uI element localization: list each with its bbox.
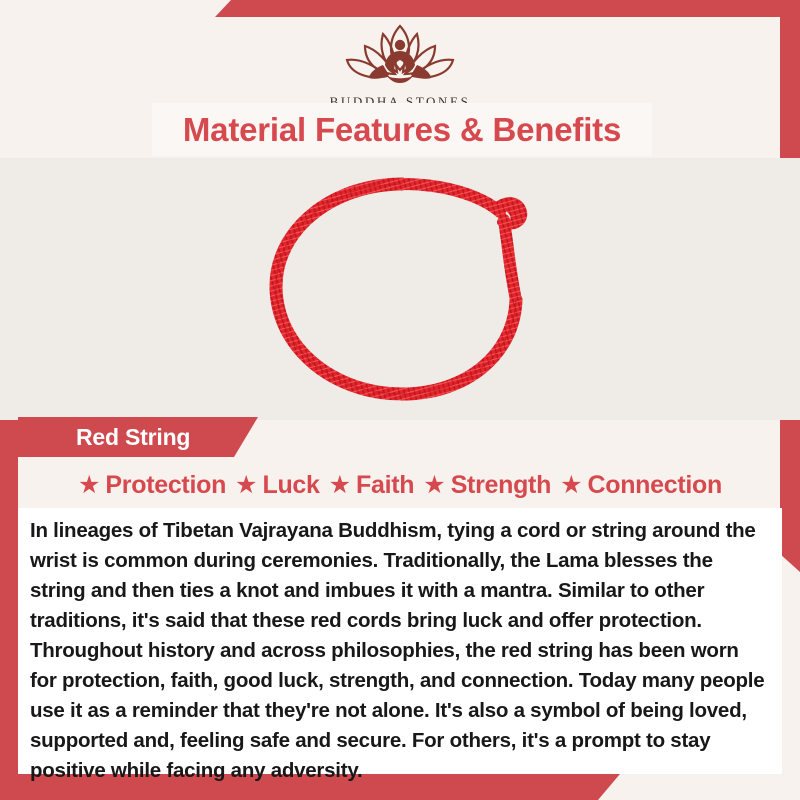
page-title: Material Features & Benefits <box>183 111 621 149</box>
description-text: In lineages of Tibetan Vajrayana Buddhis… <box>30 516 768 786</box>
benefit-item-faith: ★ Faith <box>329 471 415 500</box>
top-accent-band <box>215 0 800 17</box>
title-banner: Material Features & Benefits <box>152 103 652 156</box>
benefit-label: Connection <box>587 471 722 500</box>
description-panel: In lineages of Tibetan Vajrayana Buddhis… <box>18 508 782 774</box>
benefit-label: Luck <box>262 471 319 500</box>
benefit-label: Protection <box>105 471 226 500</box>
lotus-meditation-icon <box>325 18 475 92</box>
benefits-list: ★ Protection ★ Luck ★ Faith ★ Strength ★… <box>18 466 782 504</box>
product-image-panel <box>0 158 800 420</box>
star-icon: ★ <box>329 473 351 498</box>
star-icon: ★ <box>423 473 445 498</box>
brand-logo: BUDDHA STONES <box>0 18 800 110</box>
benefit-item-connection: ★ Connection <box>560 471 722 500</box>
benefit-label: Strength <box>451 471 551 500</box>
star-icon: ★ <box>560 473 582 498</box>
material-name-ribbon: Red String <box>18 417 258 457</box>
red-string-bracelet-image <box>252 168 552 418</box>
benefit-item-protection: ★ Protection <box>78 471 226 500</box>
benefit-item-luck: ★ Luck <box>235 471 320 500</box>
material-name: Red String <box>76 424 190 451</box>
star-icon: ★ <box>235 473 257 498</box>
star-icon: ★ <box>78 473 100 498</box>
infographic-page: BUDDHA STONES Material Features & Benefi… <box>0 0 800 800</box>
benefit-label: Faith <box>356 471 414 500</box>
benefit-item-strength: ★ Strength <box>423 471 551 500</box>
